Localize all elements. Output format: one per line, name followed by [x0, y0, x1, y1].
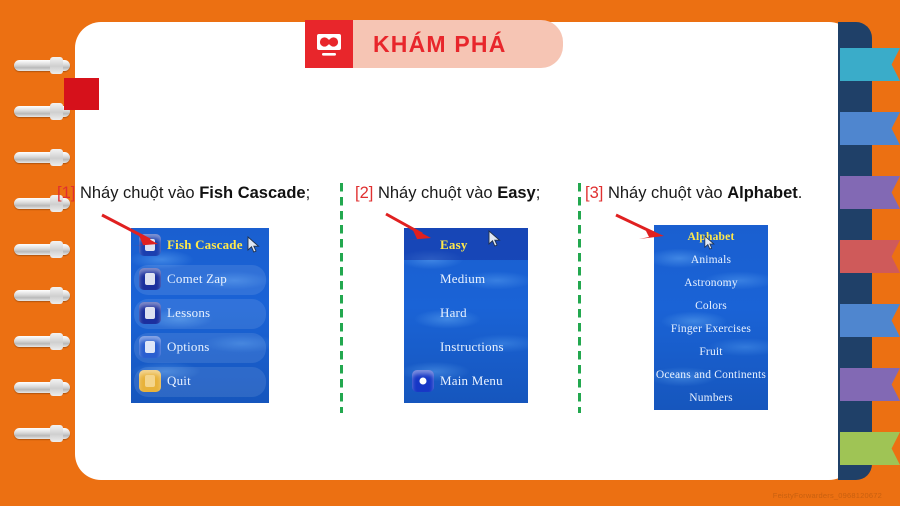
person-icon [139, 336, 161, 358]
graduate-icon [139, 302, 161, 324]
binding-ring [14, 428, 70, 439]
menu-item-hard[interactable]: Hard [404, 296, 528, 330]
menu-item-label: Colors [695, 300, 727, 312]
tab-green[interactable] [840, 432, 900, 465]
instruction-post-3: . [798, 184, 803, 202]
mouse-cursor-1 [247, 236, 261, 254]
menu-item-finger-exercises[interactable]: Finger Exercises [654, 317, 768, 340]
menu-item-label: Numbers [689, 392, 733, 404]
header-badge: KHÁM PHÁ [305, 20, 563, 68]
menu-item-label: Animals [691, 254, 731, 266]
tab-teal[interactable] [840, 48, 900, 81]
binding-ring [14, 336, 70, 347]
binoculars-icon [305, 20, 353, 68]
menu-item-animals[interactable]: Animals [654, 248, 768, 271]
menu-item-quit[interactable]: Quit [131, 364, 269, 398]
menu-item-label: Options [167, 339, 210, 355]
topic-panel[interactable]: AlphabetAnimalsAstronomyColorsFinger Exe… [654, 225, 768, 410]
menu-item-instructions[interactable]: Instructions [404, 330, 528, 364]
tab-purple-1[interactable] [840, 176, 900, 209]
door-icon [139, 370, 161, 392]
menu-item-label: Main Menu [440, 373, 503, 389]
instruction-pre-2: Nháy chuột vào [378, 184, 497, 202]
comet-icon [139, 268, 161, 290]
menu-item-label: Easy [440, 237, 468, 253]
instruction-line-3: [3] Nháy chuột vào Alphabet. [585, 184, 802, 203]
tab-purple-2[interactable] [840, 368, 900, 401]
pointer-arrow-1 [100, 213, 170, 251]
watermark: FeistyForwarders_0968120672 [773, 491, 882, 500]
instruction-target-1: Fish Cascade [199, 184, 305, 202]
pointer-arrow-3 [614, 211, 676, 243]
instruction-target-3: Alphabet [727, 184, 798, 202]
instruction-target-2: Easy [497, 184, 536, 202]
menu-item-label: Lessons [167, 305, 210, 321]
menu-item-comet-zap[interactable]: Comet Zap [131, 262, 269, 296]
instruction-pre-3: Nháy chuột vào [608, 184, 727, 202]
section-divider-2 [578, 183, 581, 413]
menu-item-label: Instructions [440, 339, 504, 355]
binding-ring [14, 106, 70, 117]
menu-item-label: Hard [440, 305, 467, 321]
menu-item-label: Comet Zap [167, 271, 227, 287]
menu-item-label: Finger Exercises [671, 323, 751, 335]
menu-item-colors[interactable]: Colors [654, 294, 768, 317]
instruction-pre-1: Nháy chuột vào [80, 184, 199, 202]
main-menu-panel[interactable]: Fish CascadeComet ZapLessonsOptionsQuit [131, 228, 269, 403]
menu-item-lessons[interactable]: Lessons [131, 296, 269, 330]
menu-item-label: Fruit [699, 346, 722, 358]
menu-item-label: Medium [440, 271, 485, 287]
tab-red[interactable] [840, 240, 900, 273]
instruction-number-2: [2] [355, 184, 373, 202]
tab-blue-2[interactable] [840, 304, 900, 337]
binding-ring [14, 244, 70, 255]
tab-blue-1[interactable] [840, 112, 900, 145]
instruction-number-1: [1] [57, 184, 75, 202]
binding-ring [14, 382, 70, 393]
difficulty-panel[interactable]: EasyMediumHardInstructionsMain Menu [404, 228, 528, 403]
menu-item-fruit[interactable]: Fruit [654, 340, 768, 363]
mouse-cursor-3 [704, 235, 716, 251]
instruction-number-3: [3] [585, 184, 603, 202]
binding-ring [14, 290, 70, 301]
slide-canvas: KHÁM PHÁ [1] Nháy chuột vào Fish Cascade… [0, 0, 900, 506]
menu-item-numbers[interactable]: Numbers [654, 386, 768, 409]
mouse-cursor-2 [488, 230, 502, 248]
binding-ring [14, 152, 70, 163]
pointer-arrow-2 [384, 212, 440, 246]
menu-item-label: Astronomy [684, 277, 738, 289]
instruction-line-2: [2] Nháy chuột vào Easy; [355, 184, 540, 203]
page-title: KHÁM PHÁ [373, 31, 507, 58]
menu-item-medium[interactable]: Medium [404, 262, 528, 296]
menu-item-oceans-and-continents[interactable]: Oceans and Continents [654, 363, 768, 386]
menu-item-options[interactable]: Options [131, 330, 269, 364]
menu-item-astronomy[interactable]: Astronomy [654, 271, 768, 294]
red-square-marker [64, 78, 99, 110]
menu-item-main-menu[interactable]: Main Menu [404, 364, 528, 398]
instruction-post-1: ; [306, 184, 311, 202]
menu-item-label: Quit [167, 373, 191, 389]
section-divider-1 [340, 183, 343, 413]
instruction-line-1: [1] Nháy chuột vào Fish Cascade; [57, 184, 310, 203]
instruction-post-2: ; [536, 184, 541, 202]
back-icon [412, 370, 434, 392]
menu-item-label: Fish Cascade [167, 237, 243, 253]
menu-item-label: Oceans and Continents [656, 369, 766, 381]
binding-ring [14, 60, 70, 71]
